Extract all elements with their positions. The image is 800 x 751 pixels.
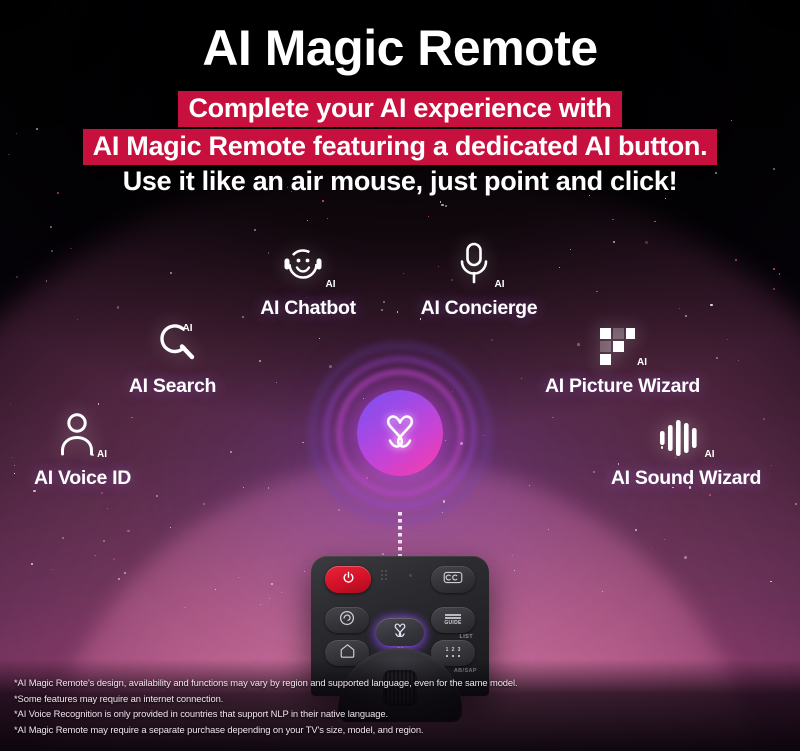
feature-icon-wrap: AI xyxy=(588,410,784,462)
star xyxy=(243,487,244,488)
star xyxy=(118,578,121,581)
feature-icon-wrap: AI xyxy=(525,318,720,370)
subtitle-block: Complete your AI experience with AI Magi… xyxy=(0,91,800,196)
star xyxy=(203,503,205,505)
feature-ai-search[interactable]: AI AI Search xyxy=(100,318,245,398)
feature-label: AI Concierge xyxy=(404,297,554,320)
star xyxy=(679,308,680,309)
star xyxy=(101,492,102,493)
feature-ai-tag: AI xyxy=(637,358,647,370)
power-button[interactable] xyxy=(325,566,371,593)
subtitle-row-3: Use it like an air mouse, just point and… xyxy=(0,167,800,196)
power-icon xyxy=(342,571,355,589)
feature-icon-wrap: AI xyxy=(10,410,155,462)
star xyxy=(570,249,571,250)
star xyxy=(281,592,282,593)
star xyxy=(16,276,18,278)
person-icon xyxy=(58,411,96,462)
feature-icon-wrap: AI xyxy=(100,318,245,370)
footnotes: *AI Magic Remote's design, availability … xyxy=(14,677,518,739)
star xyxy=(52,569,53,570)
star xyxy=(779,273,780,274)
star xyxy=(645,241,648,244)
feature-label: AI Picture Wizard xyxy=(525,375,720,398)
star xyxy=(124,572,126,574)
star xyxy=(70,248,72,250)
star xyxy=(98,403,99,404)
star xyxy=(552,417,553,418)
ai-knot-logo-icon xyxy=(377,409,423,458)
caption-icon xyxy=(443,571,463,589)
feature-icon-wrap: AI xyxy=(404,240,554,292)
feature-label: AI Search xyxy=(100,375,245,398)
star xyxy=(117,306,119,308)
star xyxy=(795,503,797,505)
star xyxy=(304,571,305,572)
star xyxy=(113,558,115,560)
star xyxy=(613,241,615,243)
remote-mic-hole xyxy=(409,574,412,577)
star xyxy=(596,291,598,293)
feature-ai-tag: AI xyxy=(705,450,715,462)
feature-ai-concierge[interactable]: AI AI Concierge xyxy=(404,240,554,320)
feature-label: AI Voice ID xyxy=(10,467,155,490)
orb-core[interactable] xyxy=(357,390,443,476)
subtitle-line-3: Use it like an air mouse, just point and… xyxy=(123,167,678,196)
star xyxy=(271,583,273,585)
star xyxy=(46,280,47,281)
feature-ai-tag: AI xyxy=(495,280,505,292)
star xyxy=(269,598,271,600)
star xyxy=(107,508,108,509)
star xyxy=(684,556,686,558)
guide-button[interactable]: GUIDE xyxy=(431,607,475,633)
star xyxy=(302,442,303,443)
star xyxy=(654,221,656,223)
star xyxy=(735,259,737,261)
feature-label: AI Chatbot xyxy=(228,297,388,320)
magnifier-icon xyxy=(153,319,199,370)
keypad-icon: 123 xyxy=(445,648,462,659)
star xyxy=(652,548,653,549)
star xyxy=(322,200,324,202)
microphone-icon xyxy=(454,241,494,292)
star xyxy=(441,204,444,207)
star xyxy=(51,250,53,252)
star xyxy=(327,218,328,219)
chatbot-face-headset-icon xyxy=(281,243,325,292)
feature-ai-tag: AI xyxy=(326,280,336,292)
star xyxy=(428,216,429,217)
feature-ai-sound-wizard[interactable]: AI AI Sound Wizard xyxy=(588,410,784,490)
star xyxy=(10,404,11,405)
star xyxy=(397,311,399,313)
star xyxy=(238,577,239,578)
star xyxy=(548,529,549,530)
footnote-2: *Some features may require an internet c… xyxy=(14,693,518,705)
star xyxy=(512,555,513,556)
star xyxy=(103,540,105,542)
pixel-checkerboard-icon xyxy=(598,325,636,370)
star xyxy=(770,581,771,582)
footnote-3: *AI Voice Recognition is only provided i… xyxy=(14,708,518,720)
footnote-4: *AI Magic Remote may require a separate … xyxy=(14,724,518,736)
caption-button[interactable] xyxy=(431,566,475,593)
star xyxy=(529,485,530,486)
star xyxy=(514,570,515,571)
promo-banner: AI Magic Remote Complete your AI experie… xyxy=(0,0,800,751)
star xyxy=(559,267,560,268)
star xyxy=(664,539,665,540)
feature-label: AI Sound Wizard xyxy=(588,467,784,490)
star xyxy=(635,529,637,531)
star xyxy=(127,530,130,533)
star xyxy=(612,219,614,221)
voice-button[interactable] xyxy=(325,607,369,633)
subtitle-row-1: Complete your AI experience with xyxy=(0,91,800,127)
star xyxy=(491,339,494,342)
star xyxy=(254,229,255,230)
star xyxy=(382,553,384,555)
star xyxy=(506,452,507,453)
star xyxy=(94,555,95,556)
subtitle-line-2: AI Magic Remote featuring a dedicated AI… xyxy=(83,129,718,165)
star xyxy=(709,494,711,496)
star xyxy=(260,604,261,605)
star xyxy=(307,220,308,221)
star xyxy=(738,360,739,361)
star xyxy=(276,382,278,384)
ai-knot-logo-icon xyxy=(389,621,411,644)
voice-icon xyxy=(339,610,355,631)
star xyxy=(184,607,185,608)
list-label: LIST xyxy=(459,634,473,640)
page-title: AI Magic Remote xyxy=(0,0,800,75)
star xyxy=(727,339,728,340)
feature-icon-wrap: AI xyxy=(228,240,388,292)
feature-ai-chatbot[interactable]: AI AI Chatbot xyxy=(228,240,388,320)
star xyxy=(170,527,171,528)
star xyxy=(31,563,34,566)
star xyxy=(268,487,269,488)
feature-ai-tag: AI xyxy=(97,450,107,462)
feature-ai-voice-id[interactable]: AI AI Voice ID xyxy=(10,410,155,490)
star xyxy=(710,304,712,306)
star xyxy=(445,205,447,207)
star xyxy=(602,591,603,592)
subtitle-line-1: Complete your AI experience with xyxy=(178,91,621,127)
star xyxy=(773,288,775,290)
star xyxy=(77,319,78,320)
star xyxy=(259,360,261,362)
star xyxy=(773,268,775,270)
star xyxy=(521,378,522,379)
star xyxy=(576,500,577,501)
guide-button-label: GUIDE xyxy=(444,620,461,626)
star xyxy=(170,272,172,274)
subtitle-row-2: AI Magic Remote featuring a dedicated AI… xyxy=(0,129,800,165)
star xyxy=(319,338,320,339)
star xyxy=(665,198,666,199)
feature-ai-picture-wizard[interactable]: AI AI Picture Wizard xyxy=(525,318,720,398)
footnote-1: *AI Magic Remote's design, availability … xyxy=(14,677,518,689)
star xyxy=(215,589,216,590)
star xyxy=(62,537,64,539)
star xyxy=(230,451,232,453)
star xyxy=(50,226,52,228)
ai-button[interactable] xyxy=(376,618,424,646)
ir-indicator-dots xyxy=(381,570,395,584)
star xyxy=(440,201,442,203)
star xyxy=(156,495,158,497)
header: AI Magic Remote Complete your AI experie… xyxy=(0,0,800,196)
guide-icon: GUIDE xyxy=(444,614,461,626)
sound-wave-bars-icon xyxy=(658,417,704,462)
ai-orb[interactable] xyxy=(315,348,485,518)
star xyxy=(611,604,612,605)
